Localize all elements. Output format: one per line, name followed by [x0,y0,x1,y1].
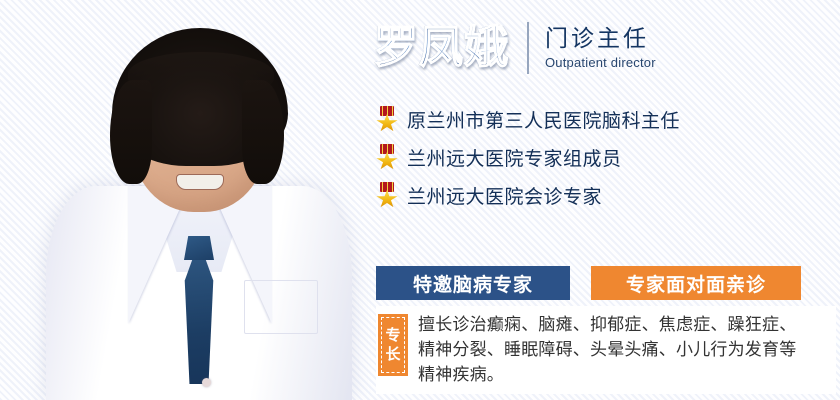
gold-medal-icon [376,182,398,208]
specialty-line: 精神分裂、睡眠障碍、头晕头痛、小儿行为发育等 [418,338,796,363]
badge-face-to-face-consult: 专家面对面亲诊 [591,266,801,300]
hair-fringe [128,52,274,96]
mouth-shape [176,174,224,190]
doctor-title-cn: 门诊主任 [545,26,656,52]
credential-text: 原兰州市第三人民医院脑科主任 [407,106,680,133]
specialty-line: 擅长诊治癫痫、脑瘫、抑郁症、焦虑症、躁狂症、 [418,313,796,338]
credential-text: 兰州远大医院会诊专家 [407,182,602,209]
doctor-title-en: Outpatient director [545,55,656,70]
profile-content: 罗凤娥 门诊主任 Outpatient director 原兰州市第三人民医院脑… [374,0,840,400]
medal-star [376,190,398,208]
specialty-tag-char-2: 长 [385,345,400,364]
doctor-title-block: 门诊主任 Outpatient director [545,26,656,70]
coat-pocket [244,280,318,334]
hair-side-left [110,80,152,184]
coat-button [202,378,211,387]
name-title-divider [527,22,529,74]
specialty-panel: 专 长 擅长诊治癫痫、脑瘫、抑郁症、焦虑症、躁狂症、 精神分裂、睡眠障碍、头晕头… [376,306,836,394]
medal-star [376,114,398,132]
necktie-knot [184,236,214,260]
medal-star [376,152,398,170]
doctor-name: 罗凤娥 [374,26,509,70]
gold-medal-icon [376,106,398,132]
badge-row: 特邀脑病专家 专家面对面亲诊 [376,266,801,300]
credential-item: 兰州远大医院专家组成员 [376,138,836,176]
specialty-tag-char-1: 专 [385,326,400,345]
doctor-name-row: 罗凤娥 门诊主任 Outpatient director [374,22,656,74]
specialty-text: 擅长诊治癫痫、脑瘫、抑郁症、焦虑症、躁狂症、 精神分裂、睡眠障碍、头晕头痛、小儿… [418,312,796,394]
doctor-portrait-photo [24,8,374,400]
specialty-line: 精神疾病。 [418,363,796,388]
gold-medal-icon [376,144,398,170]
credential-item: 兰州远大医院会诊专家 [376,176,836,214]
specialty-tag: 专 长 [378,314,408,376]
specialty-tag-inner: 专 长 [381,317,405,373]
credential-text: 兰州远大医院专家组成员 [407,144,622,171]
credentials-list: 原兰州市第三人民医院脑科主任 兰州远大医院专家组成员 兰州远大医院会诊专家 [376,100,836,214]
credential-item: 原兰州市第三人民医院脑科主任 [376,100,836,138]
badge-invited-specialist: 特邀脑病专家 [376,266,570,300]
doctor-profile-banner: 罗凤娥 门诊主任 Outpatient director 原兰州市第三人民医院脑… [0,0,840,400]
